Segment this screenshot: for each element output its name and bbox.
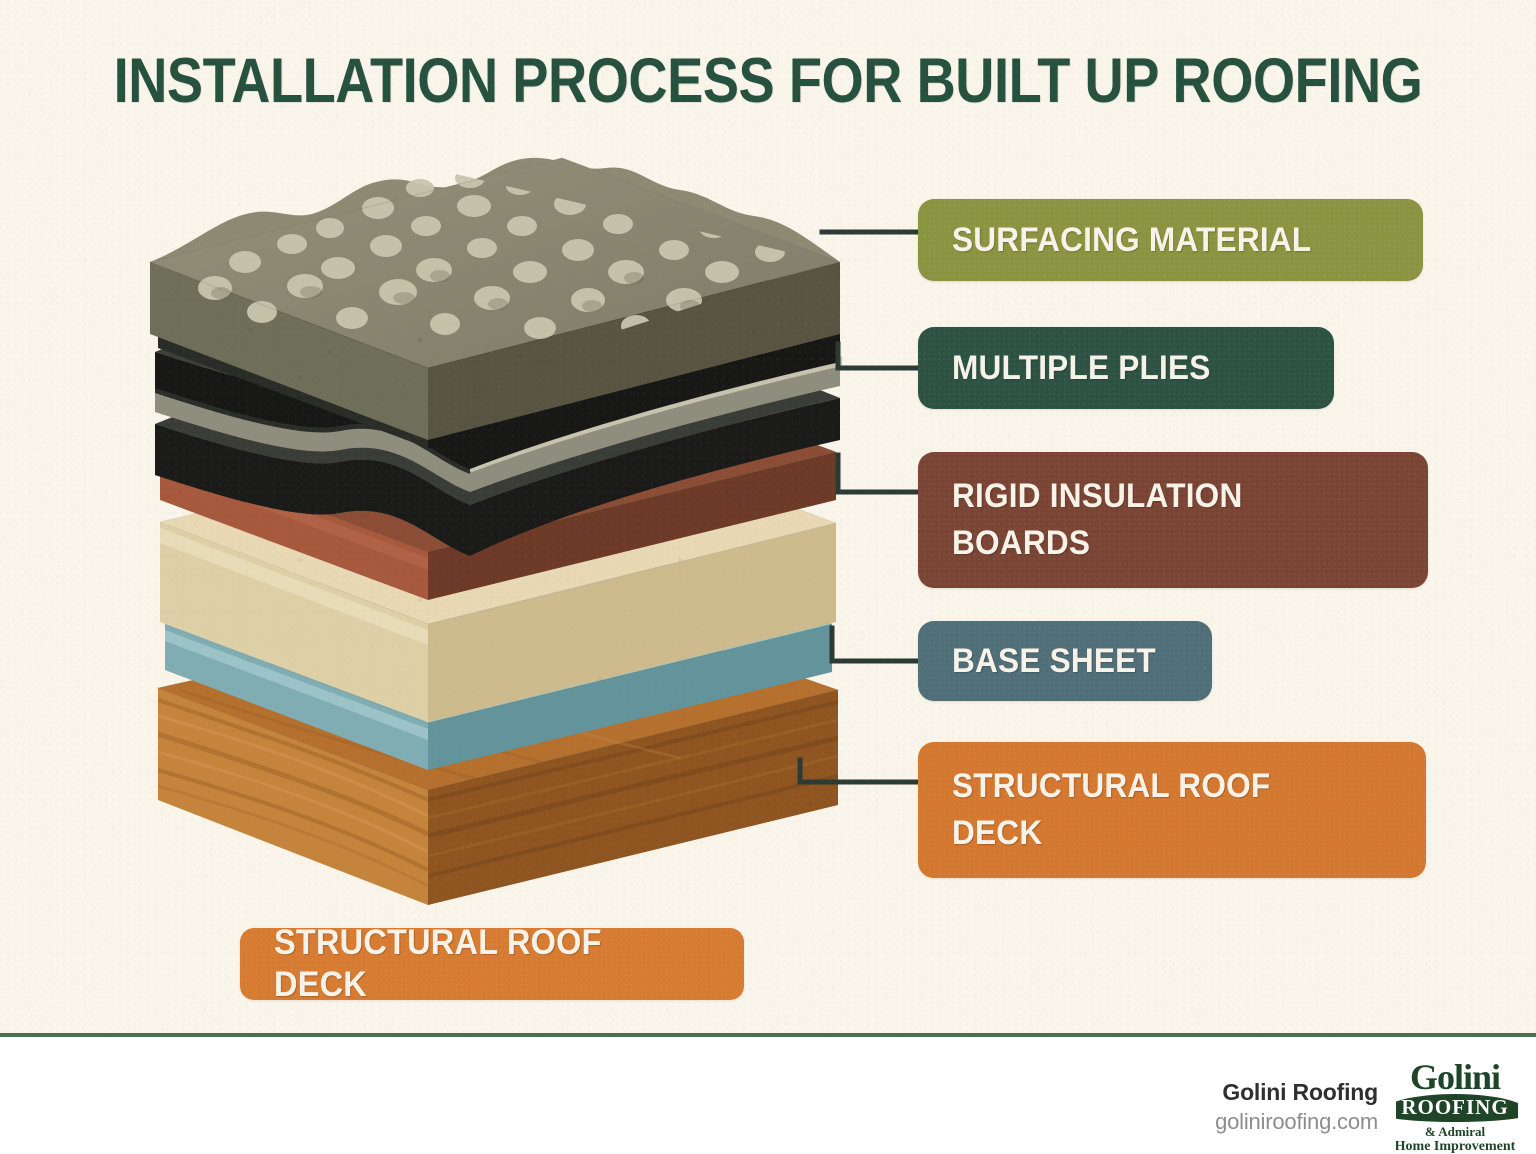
main-panel: INSTALLATION PROCESS FOR BUILT UP ROOFIN…	[0, 0, 1536, 1035]
label-insulation-line1: RIGID INSULATION	[952, 473, 1242, 520]
infographic-canvas: INSTALLATION PROCESS FOR BUILT UP ROOFIN…	[0, 0, 1536, 1154]
label-deck-bottom-text: STRUCTURAL ROOF DECK	[274, 922, 679, 1006]
label-surfacing-material-text: SURFACING MATERIAL	[952, 219, 1311, 261]
layer-stack-illustration	[0, 0, 900, 1035]
logo-banner: ROOFING	[1396, 1094, 1518, 1122]
brand-name: Golini Roofing	[1215, 1077, 1378, 1107]
label-base-sheet-text: BASE SHEET	[952, 640, 1156, 682]
label-multiple-plies[interactable]: MULTIPLE PLIES	[918, 327, 1334, 409]
label-deck-line1: STRUCTURAL ROOF	[952, 763, 1270, 810]
label-multiple-plies-text: MULTIPLE PLIES	[952, 347, 1211, 389]
golini-roofing-logo: Golini ROOFING & Admiral Home Improvemen…	[1396, 1061, 1518, 1153]
label-base-sheet[interactable]: BASE SHEET	[918, 621, 1212, 701]
footer-content: Golini Roofing goliniroofing.com Golini …	[1215, 1061, 1518, 1153]
footer-brand-text: Golini Roofing goliniroofing.com	[1215, 1077, 1378, 1137]
logo-inner: Golini ROOFING & Admiral Home Improvemen…	[1396, 1061, 1518, 1153]
label-structural-roof-deck-bottom[interactable]: STRUCTURAL ROOF DECK	[240, 928, 744, 1000]
label-surfacing-material[interactable]: SURFACING MATERIAL	[918, 199, 1423, 281]
brand-website[interactable]: goliniroofing.com	[1215, 1107, 1378, 1137]
label-deck-line2: DECK	[952, 810, 1270, 857]
label-insulation-line2: BOARDS	[952, 520, 1242, 567]
footer: Golini Roofing goliniroofing.com Golini …	[0, 1037, 1536, 1154]
logo-wordmark: Golini	[1396, 1061, 1518, 1093]
label-structural-roof-deck[interactable]: STRUCTURAL ROOF DECK	[918, 742, 1426, 878]
logo-subtitle-1: & Admiral	[1396, 1124, 1518, 1139]
label-rigid-insulation-boards[interactable]: RIGID INSULATION BOARDS	[918, 452, 1428, 588]
logo-subtitle-2: Home Improvement	[1396, 1139, 1518, 1153]
